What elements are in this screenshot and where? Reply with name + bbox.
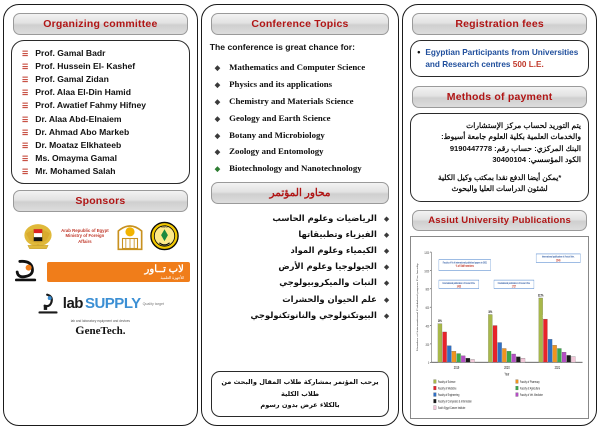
list-item: ☰Prof. Hussein El- Kashef [16, 59, 185, 72]
sponsor-logo-row-labtower: لاب تــاور للأجهزة العلمية [9, 255, 192, 289]
svg-text:1200: 1200 [425, 250, 430, 255]
svg-text:جامعة: جامعة [161, 224, 169, 228]
organizing-committee-header: Organizing committee [13, 13, 188, 35]
diamond-bullet-icon: ◆ [215, 98, 220, 106]
svg-text:800: 800 [426, 287, 430, 292]
sponsor-logo-row-genetech: GeneTech. [9, 323, 192, 338]
topic-label: Zoology and Entomology [229, 146, 323, 156]
list-item: ☰Prof. Awatief Fahmy Hifney [16, 99, 185, 112]
list-item: ☰Mr. Mohamed Salah [16, 165, 185, 178]
triple-bar-bullet-icon: ☰ [22, 130, 27, 137]
gene-tech-ene: ene [85, 325, 101, 337]
svg-text:400: 400 [426, 323, 430, 328]
list-item: ◆الجيولوجيا وعلوم الأرض [207, 258, 393, 274]
svg-text:2021: 2021 [555, 365, 561, 370]
sponsor-logo-row-official: Arab Republic of Egypt Ministry of Forei… [9, 217, 192, 255]
list-item: ◆الفيزياء وتطبيقاتها [207, 226, 393, 242]
svg-text:Faculty of Medicine: Faculty of Medicine [438, 385, 457, 390]
lab-tower-banner: لاب تــاور للأجهزة العلمية [47, 262, 190, 282]
diamond-bullet-icon: ◆ [215, 148, 220, 156]
diamond-bullet-icon: ◆ [384, 279, 389, 287]
topic-label: Chemistry and Materials Science [229, 96, 353, 106]
member-name: Prof. Hussein El- Kashef [35, 61, 135, 71]
topic-label-arabic: الفيزياء وتطبيقاتها [298, 229, 377, 239]
lab-supply-wordmark: lab SUPPLY Quality target [63, 295, 164, 312]
topic-label-arabic: الكيمياء وعلوم المواد [290, 245, 376, 255]
svg-text:2046: 2046 [556, 257, 561, 262]
svg-text:Faculty of Computers & Informa: Faculty of Computers & Information [438, 398, 472, 403]
list-item: ☰Ms. Omayma Gamal [16, 152, 185, 165]
payment-line: والخدمات العلمية بكلية العلوم جامعة أسيو… [418, 131, 581, 142]
list-item: ☰Dr. Alaa Abd-Elnaiem [16, 112, 185, 125]
svg-text:Faculty of Science: Faculty of Science [438, 379, 456, 384]
diamond-bullet-icon: ◆ [384, 215, 389, 223]
svg-text:600: 600 [426, 305, 430, 310]
payment-institution-code: الكود المؤسسي: 30400104 [418, 154, 581, 165]
brochure-page: Organizing committee ☰Prof. Gamal Badr ☰… [0, 0, 600, 430]
student-participation-note: يرحب المؤتمر بمشاركة طلاب المقال والبحث … [211, 371, 389, 417]
sponsors-header: Sponsors [13, 190, 188, 212]
member-name: Prof. Gamal Zidan [35, 74, 109, 84]
list-item: ☰Prof. Alaa El-Din Hamid [16, 86, 185, 99]
svg-text:2019: 2019 [454, 365, 460, 370]
diamond-bullet-icon: ◆ [215, 165, 220, 173]
member-name: Prof. Alaa El-Din Hamid [35, 87, 131, 97]
topic-label-arabic: الجيولوجيا وعلوم الأرض [278, 261, 376, 271]
egypt-eagle-emblem-icon [21, 219, 55, 253]
sponsors-section: Sponsors Arab Republic of Egypt Ministry… [9, 188, 192, 419]
svg-text:% of Staff members: % of Staff members [456, 263, 474, 268]
diamond-bullet-icon: ◆ [384, 247, 389, 255]
svg-text:32.5%: 32.5% [538, 292, 544, 297]
svg-text:Year: Year [505, 371, 510, 376]
publications-chart-container: 020040060080010001200Number of Internati… [410, 236, 589, 419]
list-item: ◆Chemistry and Materials Science [207, 93, 393, 110]
topic-label-arabic: النبات والميكروبيولوجي [279, 277, 377, 287]
triple-bar-bullet-icon: ☰ [22, 51, 27, 58]
conference-topics-list: ◆Mathematics and Computer Science ◆Physi… [207, 59, 393, 176]
lab-tower-sub: للأجهزة العلمية [53, 275, 184, 280]
sponsor-logo-row-labsupply: lab SUPPLY Quality target [9, 289, 192, 319]
fee-description: Egyptian Participants from Universities … [425, 47, 582, 71]
topic-label-arabic: علم الحيوان والحشرات [282, 294, 377, 304]
ministry-label: Arab Republic of Egypt Ministry of Forei… [59, 228, 111, 244]
svg-text:27%: 27% [443, 326, 447, 331]
topic-label: Biotechnology and Nanotechnology [229, 163, 361, 173]
payment-account-number: البنك المركزي: حساب رقم: 9190447778 [418, 143, 581, 154]
triple-bar-bullet-icon: ☰ [22, 169, 27, 176]
svg-text:24.3%: 24.3% [543, 314, 549, 319]
member-name: Mr. Mohamed Salah [35, 166, 115, 176]
svg-text:1727: 1727 [512, 284, 517, 289]
conference-topics-header-arabic: محاور المؤتمر [211, 182, 389, 204]
diamond-bullet-icon: ◆ [384, 263, 389, 271]
payment-cash-note-line-1: *يمكن أيضا الدفع نقدا بمكتب وكيل الكلية [418, 172, 581, 183]
diamond-bullet-icon: ◆ [384, 296, 389, 304]
column-organizing-committee: Organizing committee ☰Prof. Gamal Badr ☰… [3, 4, 198, 426]
svg-text:0: 0 [428, 360, 429, 365]
list-item: ◆Biotechnology and Nanotechnology [207, 160, 393, 177]
committee-member-list: ☰Prof. Gamal Badr ☰Prof. Hussein El- Kas… [16, 46, 185, 178]
member-name: Prof. Gamal Badr [35, 48, 105, 58]
member-name: Dr. Moataz Elkhateeb [35, 140, 121, 150]
lab-supply-quality: Quality target [143, 302, 164, 306]
payment-line: يتم التوريد لحساب مركز الإستشارات [418, 120, 581, 131]
member-name: Dr. Ahmad Abo Markeb [35, 127, 129, 137]
list-item: ☰Dr. Moataz Elkhateeb [16, 138, 185, 151]
gene-tech-wordmark: GeneTech. [75, 325, 125, 336]
list-item: ☰Prof. Gamal Zidan [16, 72, 185, 85]
gene-tech-g: G [75, 323, 84, 337]
committee-members-box: ☰Prof. Gamal Badr ☰Prof. Hussein El- Kas… [11, 40, 190, 184]
svg-text:Faculty of Pharmacy: Faculty of Pharmacy [520, 379, 540, 384]
member-name: Dr. Alaa Abd-Elnaiem [35, 114, 121, 124]
gene-tech-tech: Tech. [101, 325, 126, 337]
topic-label: Geology and Earth Science [229, 113, 330, 123]
diamond-bullet-icon: ◆ [215, 81, 220, 89]
registration-fees-header: Registration fees [412, 13, 587, 35]
triple-bar-bullet-icon: ☰ [22, 64, 27, 71]
svg-text:26%: 26% [493, 320, 497, 325]
svg-text:1000: 1000 [425, 268, 430, 273]
member-name: Ms. Omayma Gamal [35, 153, 117, 163]
list-item: ◆البيوتكنولوجي والنانوتكنولوجي [207, 307, 393, 323]
list-item: ◆Geology and Earth Science [207, 109, 393, 126]
triple-bar-bullet-icon: ☰ [22, 156, 27, 163]
list-item: ◆الكيمياء وعلوم المواد [207, 242, 393, 258]
registration-fee-box: • Egyptian Participants from Universitie… [410, 40, 589, 77]
lab-supply-supply: SUPPLY [85, 295, 141, 312]
topic-label: Mathematics and Computer Science [229, 62, 365, 72]
methods-of-payment-header: Methods of payment [412, 86, 587, 108]
svg-text:30%: 30% [489, 309, 493, 314]
diamond-bullet-icon: ◆ [215, 115, 220, 123]
list-item: ◆Botany and Microbiology [207, 126, 393, 143]
note-line-1: يرحب المؤتمر بمشاركة طلاب المقال والبحث … [216, 377, 384, 399]
topic-label-arabic: البيوتكنولوجي والنانوتكنولوجي [250, 310, 376, 320]
fee-text: Egyptian Participants from Universities … [425, 48, 578, 69]
fee-line: • Egyptian Participants from Universitie… [417, 46, 582, 71]
topic-label-arabic: الرياضيات وعلوم الحاسب [272, 213, 376, 223]
triple-bar-bullet-icon: ☰ [22, 143, 27, 150]
payment-details-box: يتم التوريد لحساب مركز الإستشارات والخدم… [410, 113, 589, 202]
diamond-bullet-icon: ◆ [384, 312, 389, 320]
list-item: ☰Prof. Gamal Badr [16, 46, 185, 59]
payment-cash-note-line-2: لشئون الدراسات العليا والبحوث [418, 183, 581, 194]
triple-bar-bullet-icon: ☰ [22, 103, 27, 110]
svg-text:Faculty of Agriculture: Faculty of Agriculture [520, 385, 540, 390]
gold-seal-emblem-icon: جامعة [149, 219, 180, 253]
list-item: ◆Zoology and Entomology [207, 143, 393, 160]
microscope-icon [37, 291, 59, 317]
list-item: ◆علم الحيوان والحشرات [207, 290, 393, 306]
lab-tower-glyph-icon [11, 257, 41, 287]
lab-tower-name: لاب تــاور [53, 264, 184, 275]
svg-text:Number of International Publis: Number of International Published papers… [416, 262, 419, 350]
lab-supply-lab: lab [63, 295, 83, 312]
publications-header: Assiut University Publications [412, 210, 587, 231]
diamond-bullet-icon: ◆ [215, 64, 220, 72]
svg-text:2020: 2020 [504, 365, 510, 370]
triple-bar-bullet-icon: ☰ [22, 117, 27, 124]
list-item: ◆الرياضيات وعلوم الحاسب [207, 209, 393, 225]
column-conference-topics: Conference Topics The conference is grea… [201, 4, 399, 426]
topics-intro-text: The conference is great chance for: [210, 42, 390, 52]
publications-bar-chart: 020040060080010001200Number of Internati… [413, 239, 586, 416]
svg-text:200: 200 [426, 342, 430, 347]
fee-amount: 500 L.E. [513, 60, 544, 69]
list-item: ☰Dr. Ahmad Abo Markeb [16, 125, 185, 138]
column-registration-payment: Registration fees • Egyptian Participant… [402, 4, 597, 426]
list-item: ◆النبات والميكروبيولوجي [207, 274, 393, 290]
diamond-bullet-icon: ◆ [215, 132, 220, 140]
svg-text:South Egypt Cancer Institute: South Egypt Cancer Institute [438, 405, 466, 410]
diamond-bullet-icon: ◆ [384, 231, 389, 239]
topic-label: Botany and Microbiology [229, 130, 325, 140]
list-item: ◆Physics and its applications [207, 76, 393, 93]
svg-text:Faculty of Engineering: Faculty of Engineering [438, 392, 460, 397]
gene-tech-logo: GeneTech. [75, 325, 125, 336]
conference-topics-header: Conference Topics [211, 13, 389, 35]
topic-label: Physics and its applications [229, 79, 332, 89]
triple-bar-bullet-icon: ☰ [22, 77, 27, 84]
member-name: Prof. Awatief Fahmy Hifney [35, 100, 146, 110]
bullet-icon: • [417, 46, 420, 59]
svg-text:1433: 1433 [457, 284, 462, 289]
svg-text:Faculty of Vet. Medicine: Faculty of Vet. Medicine [520, 392, 543, 397]
assiut-university-emblem-icon [115, 219, 145, 253]
triple-bar-bullet-icon: ☰ [22, 90, 27, 97]
list-item: ◆Mathematics and Computer Science [207, 59, 393, 76]
conference-topics-list-arabic: ◆الرياضيات وعلوم الحاسب ◆الفيزياء وتطبيق… [207, 209, 393, 322]
svg-text:29%: 29% [438, 318, 442, 323]
note-line-2: بالكلاء عرض بدون رسوم [216, 400, 384, 411]
